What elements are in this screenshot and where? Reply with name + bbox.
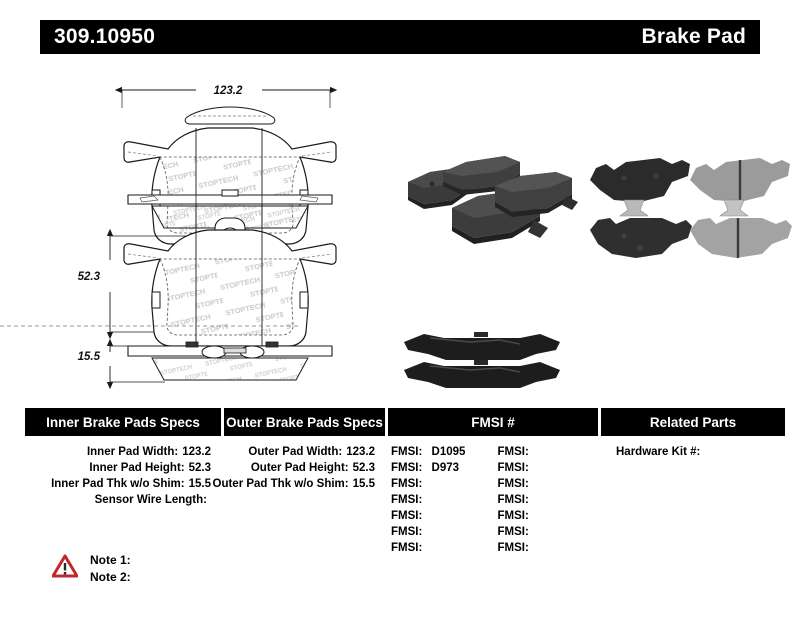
spec-value: 15.5 <box>353 476 375 492</box>
dimension-height-label: 52.3 <box>78 271 101 283</box>
spec-label: Outer Pad Height: <box>251 460 349 476</box>
fmsi-label: FMSI: <box>391 446 422 458</box>
fmsi-row: FMSI: <box>498 492 599 508</box>
pad-edge-view-bottom <box>128 342 332 380</box>
fmsi-label: FMSI: <box>391 478 422 490</box>
fmsi-row: FMSI: <box>391 476 492 492</box>
spec-label: Sensor Wire Length: <box>95 492 207 508</box>
column-header-related: Related Parts <box>598 408 785 436</box>
spec-row: Sensor Wire Length: <box>25 492 221 508</box>
column-header-inner: Inner Brake Pads Specs <box>25 408 221 436</box>
spec-row: Inner Pad Width: 123.2 <box>25 444 221 460</box>
spec-value: 15.5 <box>189 476 211 492</box>
fmsi-label: FMSI: <box>391 494 422 506</box>
spec-value: 123.2 <box>346 444 375 460</box>
fmsi-row: FMSI: D973 <box>391 460 492 476</box>
fmsi-row: FMSI: <box>391 492 492 508</box>
column-header-fmsi: FMSI # <box>385 408 598 436</box>
fmsi-label: FMSI: <box>391 462 422 474</box>
photo-pads-group-edge <box>404 332 560 388</box>
spec-row: Inner Pad Height: 52.3 <box>25 460 221 476</box>
table-body: Inner Pad Width: 123.2 Inner Pad Height:… <box>25 436 785 556</box>
fmsi-label: FMSI: <box>498 526 529 538</box>
technical-drawing: STOPTECH STOPTECH STOPTECH STOPTECH 123.… <box>0 60 800 400</box>
spec-row: Inner Pad Thk w/o Shim: 15.5 <box>25 476 221 492</box>
column-header-outer: Outer Brake Pads Specs <box>221 408 385 436</box>
fmsi-label: FMSI: <box>498 494 529 506</box>
part-number: 309.10950 <box>54 25 155 49</box>
fmsi-label: FMSI: <box>391 542 422 554</box>
spec-row: Outer Pad Width: 123.2 <box>221 444 385 460</box>
fmsi-value: D1095 <box>432 446 466 458</box>
fmsi-subcolumn-right: FMSI: FMSI: FMSI: FMSI: FMSI: <box>492 444 599 556</box>
dimension-thickness-label: 15.5 <box>78 351 101 363</box>
fmsi-row: FMSI: D1095 <box>391 444 492 460</box>
fmsi-subcolumn-left: FMSI: D1095 FMSI: D973 FMSI: FMSI: FMSI: <box>385 444 492 556</box>
header-bar: 309.10950 Brake Pad <box>40 20 760 54</box>
notes-section: Note 1: Note 2: <box>52 552 131 586</box>
page-title: Brake Pad <box>641 25 746 49</box>
fmsi-label: FMSI: <box>498 446 529 458</box>
fmsi-label: FMSI: <box>498 510 529 522</box>
photo-pads-group-top-left <box>408 156 578 244</box>
spec-label: Inner Pad Thk w/o Shim: <box>51 476 185 492</box>
related-parts-column: Hardware Kit #: <box>598 444 785 556</box>
warning-triangle-icon <box>52 554 78 578</box>
spec-label: Outer Pad Width: <box>248 444 342 460</box>
spec-value: 52.3 <box>353 460 375 476</box>
fmsi-label: FMSI: <box>391 526 422 538</box>
spec-label: Inner Pad Height: <box>89 460 184 476</box>
fmsi-row: FMSI: <box>498 460 599 476</box>
related-label: Hardware Kit #: <box>616 446 700 458</box>
spec-row: Outer Pad Thk w/o Shim: 15.5 <box>221 476 385 492</box>
fmsi-label: FMSI: <box>498 542 529 554</box>
related-row: Hardware Kit #: <box>616 444 785 460</box>
fmsi-row: FMSI: <box>498 444 599 460</box>
spec-row: Outer Pad Height: 52.3 <box>221 460 385 476</box>
fmsi-column: FMSI: D1095 FMSI: D973 FMSI: FMSI: FMSI: <box>385 444 598 556</box>
fmsi-row: FMSI: <box>391 524 492 540</box>
fmsi-label: FMSI: <box>498 478 529 490</box>
inner-specs-column: Inner Pad Width: 123.2 Inner Pad Height:… <box>25 444 221 556</box>
note-item: Note 2: <box>90 569 131 586</box>
fmsi-row: FMSI: <box>498 524 599 540</box>
fmsi-label: FMSI: <box>391 510 422 522</box>
note-list: Note 1: Note 2: <box>90 552 131 586</box>
fmsi-value: D973 <box>432 462 460 474</box>
fmsi-row: FMSI: <box>498 508 599 524</box>
note-item: Note 1: <box>90 552 131 569</box>
drawing-area: STOPTECH STOPTECH STOPTECH STOPTECH 123.… <box>0 60 800 400</box>
spec-value: 52.3 <box>189 460 211 476</box>
photo-pads-group-top-right <box>590 158 792 258</box>
fmsi-row: FMSI: <box>498 476 599 492</box>
table-header-row: Inner Brake Pads Specs Outer Brake Pads … <box>25 408 785 436</box>
fmsi-row: FMSI: <box>391 508 492 524</box>
spec-label: Inner Pad Width: <box>87 444 178 460</box>
fmsi-row: FMSI: <box>498 540 599 556</box>
fmsi-label: FMSI: <box>498 462 529 474</box>
spec-label: Outer Pad Thk w/o Shim: <box>213 476 349 492</box>
specifications-table: Inner Brake Pads Specs Outer Brake Pads … <box>25 408 785 556</box>
outer-specs-column: Outer Pad Width: 123.2 Outer Pad Height:… <box>221 444 385 556</box>
spec-value: 123.2 <box>182 444 211 460</box>
dimension-width-label: 123.2 <box>214 85 243 97</box>
fmsi-row: FMSI: <box>391 540 492 556</box>
